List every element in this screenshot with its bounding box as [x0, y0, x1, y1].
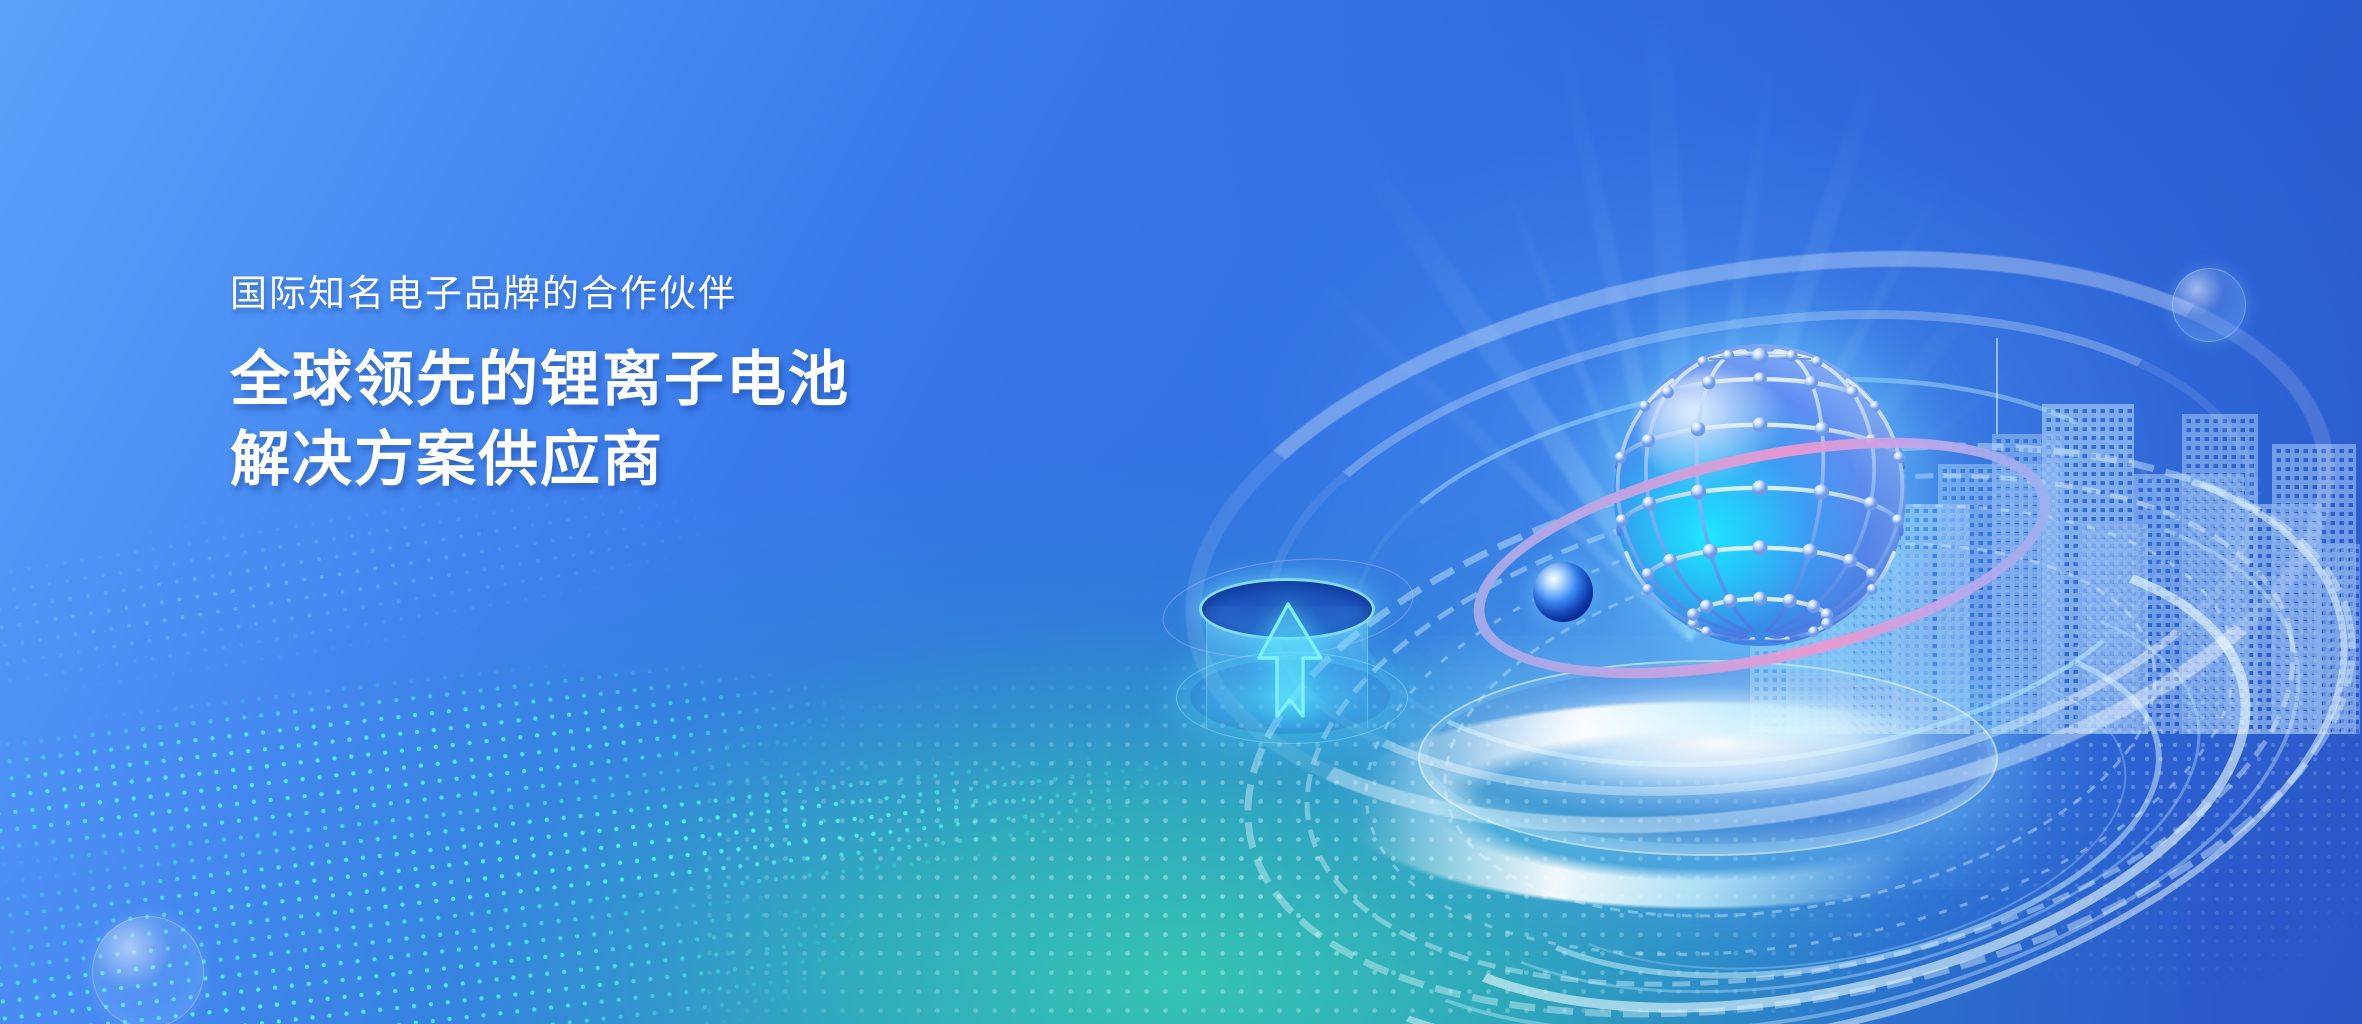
glass-bubble-top-right: [2172, 268, 2246, 342]
up-arrow-icon: [1245, 596, 1331, 736]
globe-node: [1753, 372, 1767, 386]
hero-banner: 国际知名电子品牌的合作伙伴 全球领先的锂离子电池 解决方案供应商: [0, 0, 2362, 1024]
banner-subtitle: 国际知名电子品牌的合作伙伴: [230, 270, 850, 318]
globe-node: [1753, 417, 1768, 432]
globe-node: [1812, 356, 1823, 367]
platform-sweep: [1330, 700, 2070, 910]
headline-line-1: 全球领先的锂离子电池: [230, 340, 850, 420]
banner-headline: 全球领先的锂离子电池 解决方案供应商: [230, 340, 850, 500]
globe-node: [1642, 434, 1655, 447]
globe-node: [1846, 386, 1858, 398]
glass-bubble-bottom-left: [92, 916, 204, 1024]
globe-node: [1639, 401, 1650, 412]
globe-node: [1805, 376, 1818, 389]
orbit-orb: [1533, 562, 1593, 622]
globe-node: [1723, 350, 1735, 362]
banner-copy: 国际知名电子品牌的合作伙伴 全球领先的锂离子电池 解决方案供应商: [230, 270, 850, 500]
globe-node: [1815, 422, 1830, 437]
globe-node: [1615, 452, 1627, 464]
globe-node: [1786, 350, 1798, 362]
globe-node: [1697, 356, 1708, 367]
globe-node: [1662, 386, 1674, 398]
globe-node: [1870, 401, 1881, 412]
globe-node: [1691, 422, 1706, 437]
globe-pole-node: [1752, 348, 1769, 365]
globe-node: [1702, 376, 1715, 389]
headline-line-2: 解决方案供应商: [230, 420, 850, 500]
